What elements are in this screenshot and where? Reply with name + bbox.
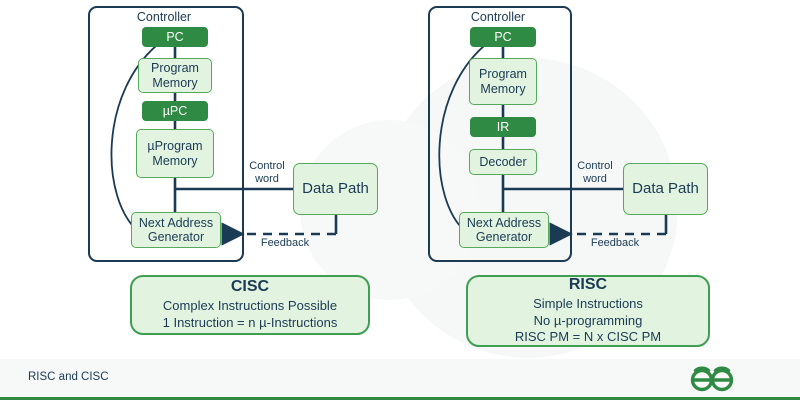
geeksforgeeks-logo bbox=[682, 361, 742, 395]
risc-block-ir: IR bbox=[470, 117, 536, 137]
cisc-controller-title: Controller bbox=[88, 10, 240, 24]
risc-caption-line-3: RISC PM = N x CISC PM bbox=[515, 329, 661, 346]
risc-feedback-label: Feedback bbox=[570, 237, 660, 250]
risc-block-program-memory: Program Memory bbox=[469, 58, 537, 105]
cisc-control-word-label: Control word bbox=[242, 160, 292, 185]
cisc-block-data-path: Data Path bbox=[293, 163, 378, 215]
cisc-block-next-address-generator: Next Address Generator bbox=[131, 212, 221, 248]
cisc-block-program-memory: Program Memory bbox=[138, 58, 212, 93]
risc-block-data-path: Data Path bbox=[623, 163, 708, 215]
cisc-block-pc: PC bbox=[142, 27, 208, 47]
footer-title: RISC and CISC bbox=[28, 371, 109, 383]
footer-bar: RISC and CISC bbox=[0, 359, 800, 400]
cisc-caption-box: CISC Complex Instructions Possible 1 Ins… bbox=[130, 275, 370, 335]
cisc-block-upc: µPC bbox=[142, 101, 208, 121]
cisc-caption-line-2: 1 Instruction = n µ-Instructions bbox=[163, 315, 338, 332]
risc-caption-box: RISC Simple Instructions No µ-programmin… bbox=[466, 275, 710, 347]
risc-controller-title: Controller bbox=[428, 10, 568, 24]
risc-block-decoder: Decoder bbox=[469, 149, 537, 175]
cisc-block-uprogram-memory: µProgram Memory bbox=[136, 129, 214, 178]
cisc-feedback-label: Feedback bbox=[240, 237, 330, 250]
risc-caption-line-2: No µ-programming bbox=[534, 313, 643, 330]
risc-caption-title: RISC bbox=[569, 276, 607, 294]
cisc-caption-line-1: Complex Instructions Possible bbox=[163, 298, 337, 315]
cisc-caption-title: CISC bbox=[231, 278, 269, 296]
diagram-stage: Controller PC Program Memory µPC µProgra… bbox=[0, 0, 800, 400]
risc-control-word-label: Control word bbox=[570, 160, 620, 185]
diagram-canvas: Controller PC Program Memory µPC µProgra… bbox=[0, 0, 800, 400]
risc-caption-line-1: Simple Instructions bbox=[533, 296, 643, 313]
risc-block-next-address-generator: Next Address Generator bbox=[459, 212, 549, 248]
risc-block-pc: PC bbox=[470, 27, 536, 47]
